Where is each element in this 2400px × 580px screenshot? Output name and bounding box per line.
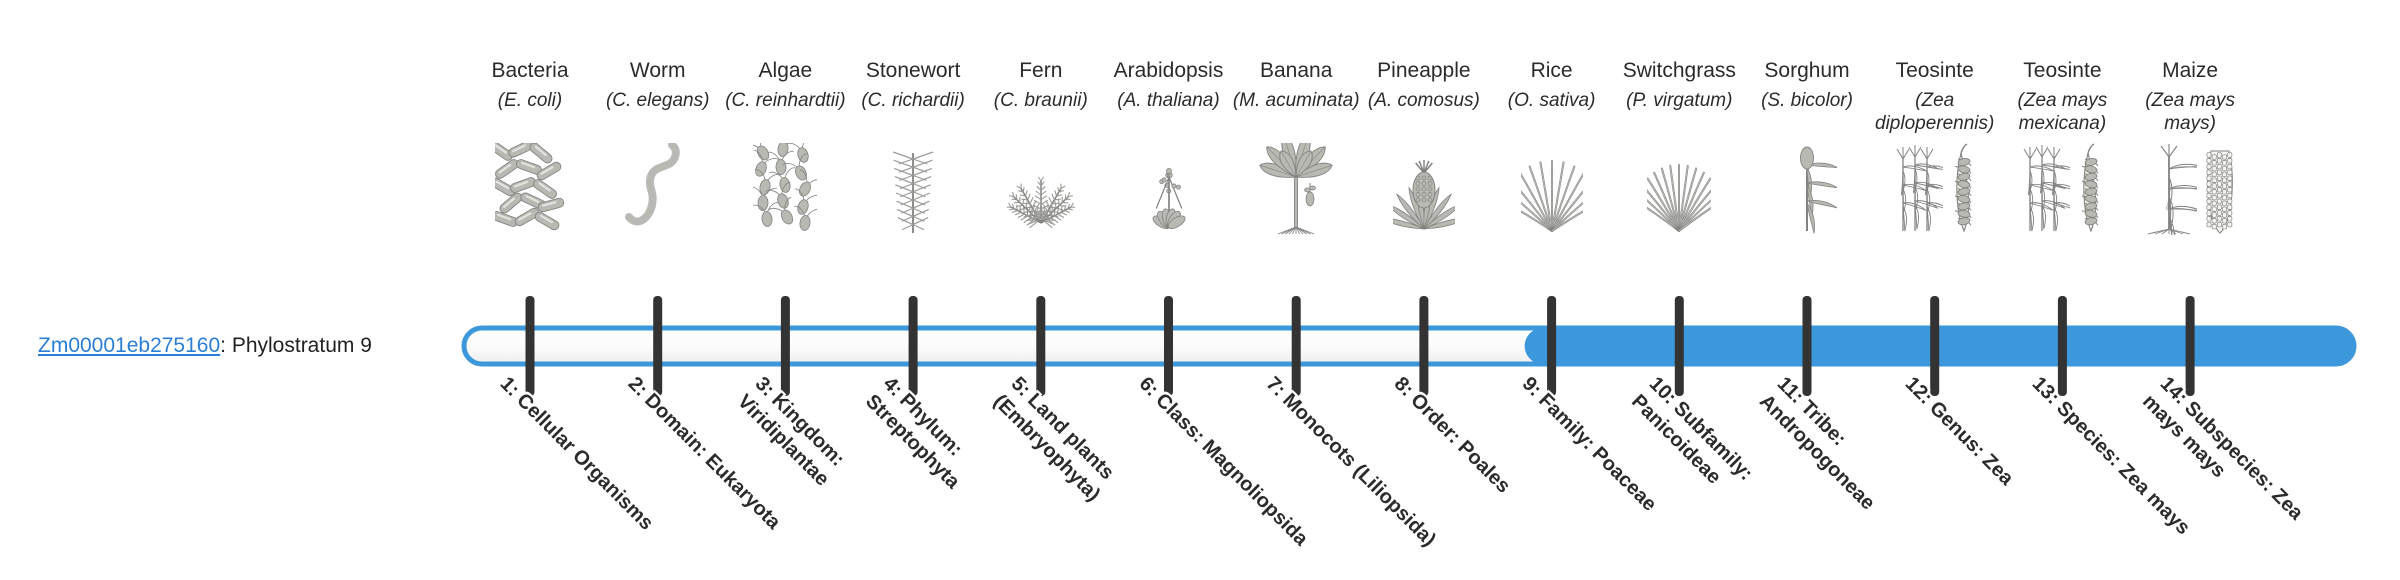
stratum-name: Order: Poales bbox=[1406, 389, 1514, 497]
stratum-number: 13: bbox=[2028, 373, 2064, 409]
stratum-name: Phylum: Streptophyta bbox=[861, 389, 967, 493]
stratum-label-group: 1: Cellular Organisms2: Domain: Eukaryot… bbox=[0, 0, 2400, 580]
phylostratum-figure: Zm00001eb275160: Phylostratum 9 Bacteria… bbox=[0, 0, 2400, 580]
stratum-number: 12: bbox=[1900, 373, 1936, 409]
stratum-label: 14: Subspecies: Zea mays mays bbox=[2137, 372, 2335, 570]
stratum-name: Cellular Organisms bbox=[512, 389, 657, 534]
stratum-name: Genus: Zea bbox=[1925, 397, 2018, 490]
stratum-name: Kingdom: Viridiplantae bbox=[733, 389, 849, 490]
stratum-name: Subfamily: Panicoideae bbox=[1627, 390, 1757, 488]
